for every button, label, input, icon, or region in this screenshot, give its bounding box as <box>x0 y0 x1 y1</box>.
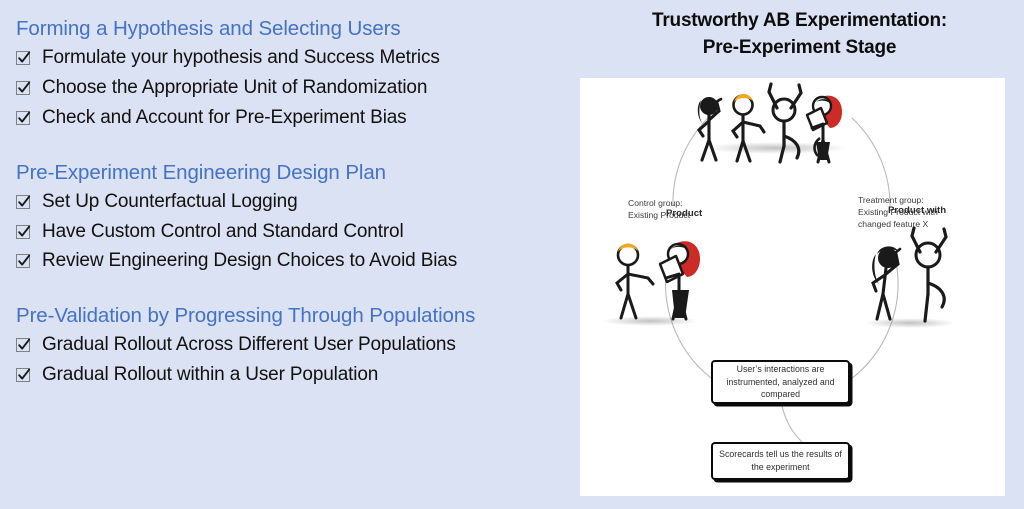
diagram-card: Control group: Existing Product Product … <box>580 78 1005 496</box>
checklist-item[interactable]: Have Custom Control and Standard Control <box>14 221 569 244</box>
section-heading: Pre-Validation by Progressing Through Po… <box>16 303 569 329</box>
checklist-item-label: Check and Account for Pre-Experiment Bia… <box>42 107 407 130</box>
diagram-title-line-1: Trustworthy AB Experimentation: <box>575 8 1024 35</box>
checkbox-checked-icon[interactable] <box>16 368 30 382</box>
checklist-item-label: Have Custom Control and Standard Control <box>42 221 404 244</box>
checklist-item-label: Choose the Appropriate Unit of Randomiza… <box>42 77 427 100</box>
checklist-item[interactable]: Check and Account for Pre-Experiment Bia… <box>14 107 569 130</box>
checklist-item[interactable]: Gradual Rollout within a User Population <box>14 364 569 387</box>
checklist-section-engineering-design: Pre-Experiment Engineering Design Plan S… <box>14 160 569 274</box>
checklist-item-label: Set Up Counterfactual Logging <box>42 191 298 214</box>
checkbox-checked-icon[interactable] <box>16 254 30 268</box>
treatment-group-two-people <box>864 228 956 328</box>
diagram-title: Trustworthy AB Experimentation: Pre-Expe… <box>575 8 1024 62</box>
checklist-panel: Forming a Hypothesis and Selecting Users… <box>0 0 575 509</box>
experiment-cycle-diagram <box>580 78 1005 496</box>
cycle-arc-bottom <box>782 406 802 442</box>
checklist-item[interactable]: Review Engineering Design Choices to Avo… <box>14 250 569 273</box>
checklist-item[interactable]: Set Up Counterfactual Logging <box>14 191 569 214</box>
treatment-group-label-overlay: Product with <box>888 205 946 217</box>
checklist-section-pre-validation: Pre-Validation by Progressing Through Po… <box>14 303 569 387</box>
control-group-label-overlay: Product <box>666 208 702 220</box>
flow-box-scorecards: Scorecards tell us the results of the ex… <box>711 442 850 480</box>
stick-figure-arms-raised-treatment <box>912 228 946 321</box>
checklist-item-label: Gradual Rollout within a User Population <box>42 364 378 387</box>
checklist-item-label: Formulate your hypothesis and Success Me… <box>42 47 440 70</box>
diagram-title-line-2: Pre-Experiment Stage <box>575 35 1024 62</box>
section-heading: Pre-Experiment Engineering Design Plan <box>16 160 569 186</box>
checklist-item-label: Review Engineering Design Choices to Avo… <box>42 250 457 273</box>
checklist-item[interactable]: Choose the Appropriate Unit of Randomiza… <box>14 77 569 100</box>
checkbox-checked-icon[interactable] <box>16 111 30 125</box>
users-group-four-people <box>698 84 848 162</box>
checklist-section-hypothesis: Forming a Hypothesis and Selecting Users… <box>14 16 569 130</box>
control-group-two-people <box>602 241 700 326</box>
section-heading: Forming a Hypothesis and Selecting Users <box>16 16 569 42</box>
checkbox-checked-icon[interactable] <box>16 338 30 352</box>
stick-figure-red-hair-tablet-control <box>660 241 700 319</box>
checklist-item-label: Gradual Rollout Across Different User Po… <box>42 334 456 357</box>
stick-figure-orange-hair-control <box>617 244 653 318</box>
checkbox-checked-icon[interactable] <box>16 225 30 239</box>
flow-box-interactions: User’s interactions are instrumented, an… <box>711 360 850 404</box>
checkbox-checked-icon[interactable] <box>16 195 30 209</box>
checkbox-checked-icon[interactable] <box>16 81 30 95</box>
checklist-item[interactable]: Formulate your hypothesis and Success Me… <box>14 47 569 70</box>
slide-canvas: Forming a Hypothesis and Selecting Users… <box>0 0 1024 509</box>
checklist-item[interactable]: Gradual Rollout Across Different User Po… <box>14 334 569 357</box>
checkbox-checked-icon[interactable] <box>16 51 30 65</box>
diagram-panel: Trustworthy AB Experimentation: Pre-Expe… <box>575 0 1024 509</box>
